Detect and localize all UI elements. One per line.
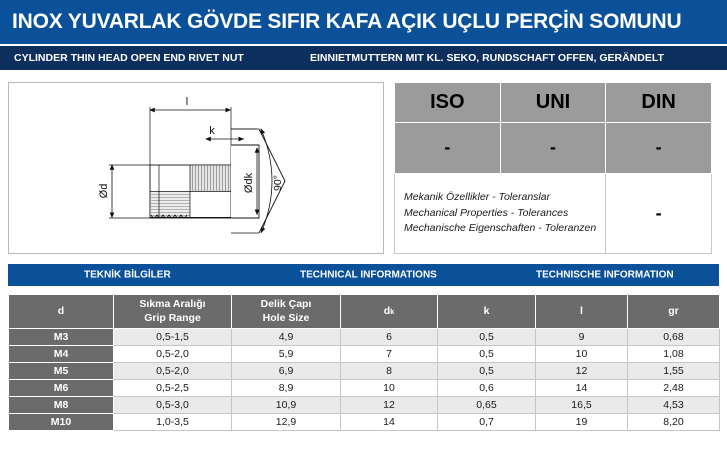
cell-grip: 0,5-3,0 (114, 397, 232, 414)
standard-iso-value: - (395, 123, 501, 173)
cell-l: 16,5 (536, 397, 628, 414)
cell-l: 12 (536, 363, 628, 380)
cell-dk: 8 (341, 363, 438, 380)
cell-l: 19 (536, 414, 628, 431)
dimension-label-l: l (186, 96, 188, 108)
mechanical-properties-en: Mechanical Properties - Tolerances (404, 206, 605, 221)
mechanical-properties-de: Mechanische Eigenschaften - Toleranzen (404, 221, 605, 236)
subtitle-english: CYLINDER THIN HEAD OPEN END RIVET NUT (14, 52, 244, 64)
cell-d: M10 (9, 414, 114, 431)
table-row: M40,5-2,05,970,5101,08 (9, 346, 720, 363)
info-bar-english: TECHNICAL INFORMATIONS (300, 270, 437, 281)
standards-header-row: ISO UNI DIN (395, 83, 712, 123)
column-header-hole-size: Delik Çapı Hole Size (232, 295, 341, 329)
cell-gr: 2,48 (628, 380, 720, 397)
cell-hole: 4,9 (232, 329, 341, 346)
cell-gr: 1,55 (628, 363, 720, 380)
cell-d: M6 (9, 380, 114, 397)
page-title: INOX YUVARLAK GÖVDE SIFIR KAFA AÇIK UÇLU… (12, 10, 681, 34)
column-header-d: d (9, 295, 114, 329)
table-row: M80,5-3,010,9120,6516,54,53 (9, 397, 720, 414)
cell-d: M8 (9, 397, 114, 414)
table-row: M60,5-2,58,9100,6142,48 (9, 380, 720, 397)
specifications-table-body: M30,5-1,54,960,590,68M40,5-2,05,970,5101… (9, 329, 720, 431)
cell-dk: 14 (341, 414, 438, 431)
dimension-label-odk: Ødk (243, 172, 255, 193)
column-header-dk: dk (341, 295, 438, 329)
cell-k: 0,65 (438, 397, 536, 414)
specifications-table-wrapper: d Sıkma Aralığı Grip Range Delik Çapı Ho… (8, 294, 719, 431)
cell-gr: 4,53 (628, 397, 720, 414)
cell-gr: 0,68 (628, 329, 720, 346)
standard-uni-value: - (500, 123, 606, 173)
mechanical-properties-row: Mekanik Özellikler - Toleranslar Mechani… (395, 173, 712, 253)
column-header-l: l (536, 295, 628, 329)
rivet-nut-diagram: l k Ød (9, 83, 383, 253)
cell-dk: 10 (341, 380, 438, 397)
mechanical-properties-cell: Mekanik Özellikler - Toleranslar Mechani… (395, 173, 606, 253)
cell-k: 0,5 (438, 329, 536, 346)
cell-hole: 6,9 (232, 363, 341, 380)
cell-grip: 0,5-1,5 (114, 329, 232, 346)
dimension-label-angle: 90° (272, 175, 284, 191)
specifications-header-row: d Sıkma Aralığı Grip Range Delik Çapı Ho… (9, 295, 720, 329)
cell-grip: 0,5-2,0 (114, 363, 232, 380)
cell-gr: 8,20 (628, 414, 720, 431)
table-row: M101,0-3,512,9140,7198,20 (9, 414, 720, 431)
table-row: M50,5-2,06,980,5121,55 (9, 363, 720, 380)
cell-grip: 0,5-2,0 (114, 346, 232, 363)
dimension-label-k: k (209, 125, 215, 137)
cell-d: M4 (9, 346, 114, 363)
cell-k: 0,5 (438, 363, 536, 380)
column-header-grip-range: Sıkma Aralığı Grip Range (114, 295, 232, 329)
technical-drawing: l k Ød (8, 82, 384, 254)
datasheet-page: INOX YUVARLAK GÖVDE SIFIR KAFA AÇIK UÇLU… (0, 0, 727, 465)
cell-d: M5 (9, 363, 114, 380)
specifications-table: d Sıkma Aralığı Grip Range Delik Çapı Ho… (8, 294, 720, 431)
standard-din-header: DIN (606, 83, 712, 123)
product-title-bar: INOX YUVARLAK GÖVDE SIFIR KAFA AÇIK UÇLU… (0, 0, 727, 44)
cell-l: 14 (536, 380, 628, 397)
cell-gr: 1,08 (628, 346, 720, 363)
cell-hole: 12,9 (232, 414, 341, 431)
cell-dk: 6 (341, 329, 438, 346)
cell-k: 0,7 (438, 414, 536, 431)
standard-din-value: - (606, 123, 712, 173)
cell-l: 10 (536, 346, 628, 363)
cell-dk: 12 (341, 397, 438, 414)
cell-grip: 1,0-3,5 (114, 414, 232, 431)
product-subtitle-bar: CYLINDER THIN HEAD OPEN END RIVET NUT EI… (0, 44, 727, 70)
cell-k: 0,6 (438, 380, 536, 397)
mechanical-properties-tr: Mekanik Özellikler - Toleranslar (404, 190, 605, 205)
cell-k: 0,5 (438, 346, 536, 363)
column-header-gr: gr (628, 295, 720, 329)
mechanical-din-value: - (606, 173, 712, 253)
middle-section: l k Ød (0, 70, 727, 264)
table-row: M30,5-1,54,960,590,68 (9, 329, 720, 346)
standard-uni-header: UNI (500, 83, 606, 123)
cell-hole: 5,9 (232, 346, 341, 363)
subtitle-german: EINNIETMUTTERN MIT KL. SEKO, RUNDSCHAFT … (310, 52, 664, 64)
cell-dk: 7 (341, 346, 438, 363)
info-bar-turkish: TEKNİK BİLGİLER (84, 270, 171, 281)
standard-iso-header: ISO (395, 83, 501, 123)
standards-table: ISO UNI DIN - - - Mekanik Özellikler - T… (394, 82, 712, 254)
info-bar-german: TECHNISCHE INFORMATION (536, 270, 674, 281)
cell-l: 9 (536, 329, 628, 346)
technical-info-bar: TEKNİK BİLGİLER TECHNICAL INFORMATIONS T… (8, 264, 719, 286)
dimension-label-od: Ød (98, 184, 110, 199)
standards-value-row: - - - (395, 123, 712, 173)
column-header-k: k (438, 295, 536, 329)
cell-hole: 8,9 (232, 380, 341, 397)
cell-hole: 10,9 (232, 397, 341, 414)
cell-grip: 0,5-2,5 (114, 380, 232, 397)
cell-d: M3 (9, 329, 114, 346)
